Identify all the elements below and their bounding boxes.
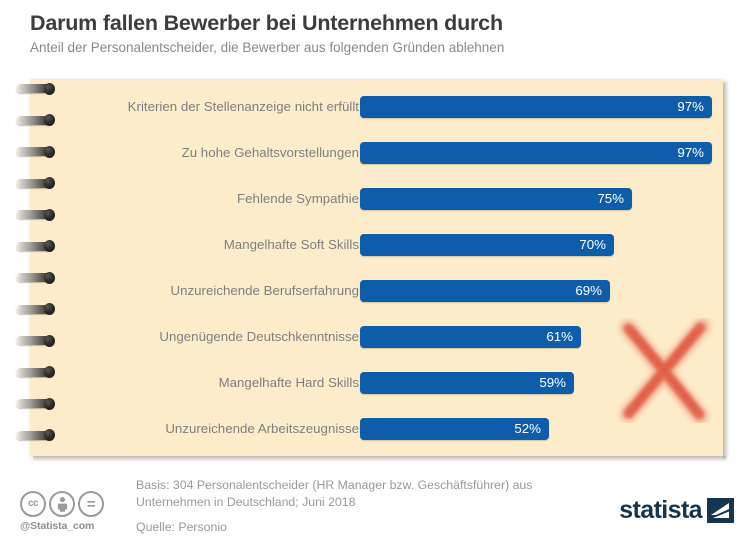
source-block: Basis: 304 Personalentscheider (HR Manag… bbox=[136, 477, 606, 536]
footer: cc = @Statista_com Basis: 304 Personalen… bbox=[0, 462, 756, 539]
bar-value-label: 61% bbox=[546, 326, 573, 348]
person-glyph bbox=[55, 496, 70, 513]
chart-row: Zu hohe Gehaltsvorstellungen97% bbox=[30, 138, 723, 168]
page-subtitle: Anteil der Personalentscheider, die Bewe… bbox=[30, 39, 730, 57]
nd-icon-label: = bbox=[87, 497, 95, 512]
bar: 97% bbox=[360, 96, 712, 118]
infographic-root: Darum fallen Bewerber bei Unternehmen du… bbox=[0, 0, 756, 539]
bar-track: 69% bbox=[360, 280, 723, 302]
bar-track: 61% bbox=[360, 326, 723, 348]
statista-handle: @Statista_com bbox=[20, 520, 116, 532]
bar-value-label: 69% bbox=[575, 280, 602, 302]
cc-icon-row: cc = bbox=[20, 491, 116, 517]
bar-category-label: Kriterien der Stellenanzeige nicht erfül… bbox=[128, 92, 359, 122]
bar-value-label: 75% bbox=[597, 188, 624, 210]
bar: 69% bbox=[360, 280, 610, 302]
chart-row: Kriterien der Stellenanzeige nicht erfül… bbox=[30, 92, 723, 122]
statista-mark-icon bbox=[707, 498, 734, 523]
creative-commons-icon: cc bbox=[20, 491, 46, 517]
bar-track: 97% bbox=[360, 142, 723, 164]
cc-nd-noderivatives-icon: = bbox=[78, 491, 104, 517]
cc-icon-label: cc bbox=[28, 499, 38, 509]
basis-line-1: Basis: 304 Personalentscheider (HR Manag… bbox=[136, 477, 606, 494]
bar-category-label: Unzureichende Berufserfahrung bbox=[171, 276, 360, 306]
chart-row: Unzureichende Berufserfahrung69% bbox=[30, 276, 723, 306]
bar: 70% bbox=[360, 234, 614, 256]
bar: 97% bbox=[360, 142, 712, 164]
chart-row: Fehlende Sympathie75% bbox=[30, 184, 723, 214]
bar-category-label: Zu hohe Gehaltsvorstellungen bbox=[182, 138, 359, 168]
bar-value-label: 52% bbox=[514, 418, 541, 440]
bar-track: 70% bbox=[360, 234, 723, 256]
bar-category-label: Unzureichende Arbeitszeugnisse bbox=[165, 414, 359, 444]
statista-wordmark: statista bbox=[619, 498, 702, 523]
bar-value-label: 59% bbox=[539, 372, 566, 394]
source-line: Quelle: Personio bbox=[136, 519, 606, 536]
bar-category-label: Mangelhafte Soft Skills bbox=[224, 230, 359, 260]
bar-track: 75% bbox=[360, 188, 723, 210]
basis-line-2: Unternehmen in Deutschland; Juni 2018 bbox=[136, 494, 606, 511]
bar: 61% bbox=[360, 326, 581, 348]
chart-row: Ungenügende Deutschkenntnisse61% bbox=[30, 322, 723, 352]
creative-commons-block: cc = @Statista_com bbox=[20, 491, 116, 532]
chart-row: Mangelhafte Soft Skills70% bbox=[30, 230, 723, 260]
bar-track: 59% bbox=[360, 372, 723, 394]
header: Darum fallen Bewerber bei Unternehmen du… bbox=[30, 10, 730, 57]
bar-category-label: Fehlende Sympathie bbox=[237, 184, 359, 214]
chart-row: Unzureichende Arbeitszeugnisse52% bbox=[30, 414, 723, 444]
bar: 52% bbox=[360, 418, 549, 440]
bar: 75% bbox=[360, 188, 632, 210]
bar-category-label: Ungenügende Deutschkenntnisse bbox=[159, 322, 359, 352]
bar-value-label: 97% bbox=[677, 142, 704, 164]
page-title: Darum fallen Bewerber bei Unternehmen du… bbox=[30, 10, 730, 36]
bar: 59% bbox=[360, 372, 574, 394]
cc-by-attribution-icon bbox=[49, 491, 75, 517]
bar-value-label: 97% bbox=[677, 96, 704, 118]
bar-value-label: 70% bbox=[579, 234, 606, 256]
bar-track: 52% bbox=[360, 418, 723, 440]
bar-chart: Kriterien der Stellenanzeige nicht erfül… bbox=[30, 79, 723, 456]
statista-logo: statista bbox=[619, 498, 734, 523]
bar-track: 97% bbox=[360, 96, 723, 118]
chart-row: Mangelhafte Hard Skills59% bbox=[30, 368, 723, 398]
bar-category-label: Mangelhafte Hard Skills bbox=[219, 368, 359, 398]
panel-shadow-right bbox=[723, 82, 729, 459]
